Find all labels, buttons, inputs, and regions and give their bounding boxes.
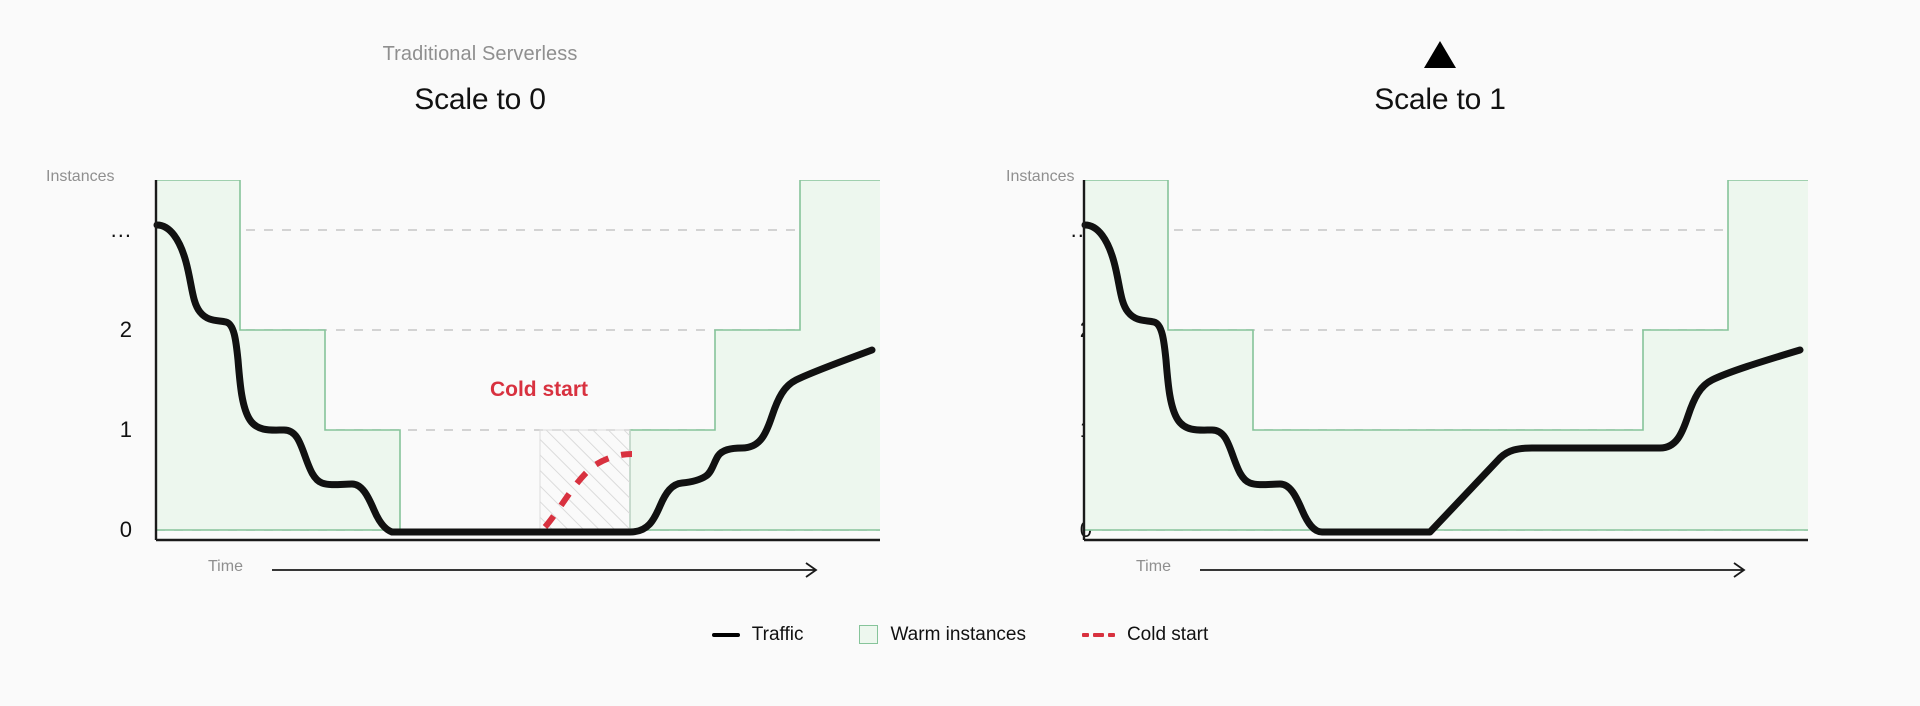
panel-scale-to-1: Scale to 1 Instances ... 2 1 0 (960, 0, 1920, 706)
box-swatch-icon (859, 625, 878, 644)
vercel-triangle-icon (960, 40, 1920, 68)
time-arrow-icon (0, 555, 960, 585)
warm-instances-area-right (630, 180, 880, 530)
legend-item-cold-start[interactable]: Cold start (1082, 625, 1208, 644)
chart-legend: Traffic Warm instances Cold start (0, 625, 1920, 644)
dashed-swatch-icon (1082, 633, 1115, 637)
legend-label: Cold start (1127, 625, 1208, 644)
panel-header: Traditional Serverless Scale to 0 (0, 40, 960, 120)
page-title: Scale to 0 (0, 80, 960, 120)
legend-label: Warm instances (890, 625, 1026, 644)
panel-header: Scale to 1 (960, 40, 1920, 120)
warm-instances-area (156, 180, 400, 530)
x-axis-row: Time (960, 555, 1920, 585)
cold-start-annotation-wrap: Cold start (0, 378, 960, 402)
legend-item-traffic[interactable]: Traffic (712, 625, 804, 644)
panel-eyebrow: Traditional Serverless (0, 40, 960, 68)
plot-area-scale-to-1 (960, 180, 1920, 600)
cold-start-hatch-region (540, 430, 630, 530)
x-axis-row: Time (0, 555, 960, 585)
legend-item-warm-instances[interactable]: Warm instances (859, 625, 1026, 644)
time-arrow-icon (960, 555, 1920, 585)
infographic-root: Traditional Serverless Scale to 0 Instan… (0, 0, 1920, 706)
page-title: Scale to 1 (960, 80, 1920, 120)
line-swatch-icon (712, 633, 740, 637)
panel-scale-to-0: Traditional Serverless Scale to 0 Instan… (0, 0, 960, 706)
legend-label: Traffic (752, 625, 804, 644)
chart-scale-to-1: Instances ... 2 1 0 (960, 180, 1920, 600)
warm-instances-area (1084, 180, 1808, 530)
cold-start-annotation: Cold start (490, 378, 588, 402)
